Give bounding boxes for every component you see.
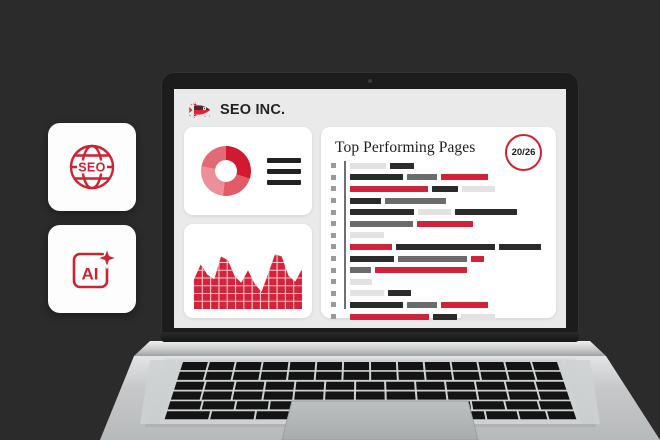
- keyboard-key[interactable]: [476, 382, 506, 390]
- row-bar: [350, 302, 403, 308]
- scene: SEO AI: [0, 0, 660, 440]
- row-bar: [350, 256, 394, 262]
- row-bar: [471, 256, 484, 262]
- keyboard-key[interactable]: [265, 382, 294, 390]
- table-row[interactable]: [331, 253, 544, 265]
- row-bar: [350, 279, 372, 285]
- donut-legend: [267, 158, 301, 185]
- table-row[interactable]: [331, 183, 544, 195]
- keyboard-key[interactable]: [447, 392, 477, 400]
- row-bar: [350, 163, 386, 169]
- table-row[interactable]: [331, 311, 544, 323]
- keyboard-key[interactable]: [171, 392, 202, 400]
- left-column: [184, 127, 312, 318]
- legend-bar: [267, 180, 301, 185]
- keyboard-key[interactable]: [233, 372, 260, 380]
- list-divider: [344, 161, 346, 309]
- row-bars: [350, 172, 488, 184]
- row-bar: [407, 174, 437, 180]
- legend-bar: [267, 169, 301, 174]
- row-bar: [407, 302, 437, 308]
- bullet-icon: [331, 210, 336, 215]
- row-bar: [350, 209, 414, 215]
- bullet-icon: [331, 163, 336, 168]
- row-bar: [455, 209, 517, 215]
- keyboard-key[interactable]: [446, 382, 475, 390]
- row-bar: [350, 221, 413, 227]
- row-bar: [350, 186, 428, 192]
- bullet-icon: [331, 244, 336, 249]
- table-row[interactable]: [331, 172, 544, 184]
- row-bar: [418, 209, 451, 215]
- keyboard-key[interactable]: [506, 382, 536, 390]
- keyboard-key[interactable]: [547, 411, 576, 419]
- keyboard-key[interactable]: [539, 401, 573, 409]
- row-bars: [350, 276, 372, 288]
- row-bars: [350, 311, 495, 323]
- keyboard-key[interactable]: [235, 362, 262, 370]
- table-row[interactable]: [331, 218, 544, 230]
- keyboard-key[interactable]: [204, 382, 234, 390]
- row-bar: [350, 174, 403, 180]
- keyboard-key[interactable]: [235, 382, 265, 390]
- table-row[interactable]: [331, 206, 544, 218]
- keyboard-key[interactable]: [508, 392, 539, 400]
- seo-dashboard: SEO INC.: [174, 89, 566, 328]
- table-row[interactable]: [331, 299, 544, 311]
- keyboard-key[interactable]: [210, 411, 255, 419]
- bullet-icon: [331, 233, 336, 238]
- row-bar: [433, 314, 457, 320]
- keyboard-key[interactable]: [263, 392, 293, 400]
- keyboard-key[interactable]: [453, 372, 480, 380]
- laptop-lid: SEO INC.: [161, 72, 579, 342]
- keyboard-key[interactable]: [343, 372, 369, 380]
- webcam-icon: [368, 79, 372, 83]
- table-row[interactable]: [331, 230, 544, 242]
- keyboard-key[interactable]: [236, 401, 269, 409]
- bullet-icon: [331, 256, 336, 261]
- row-bars: [350, 288, 411, 300]
- keyboard-key[interactable]: [486, 411, 519, 419]
- bullet-icon: [331, 221, 336, 226]
- keyboard-key[interactable]: [294, 392, 323, 400]
- keyboard-key[interactable]: [386, 382, 415, 390]
- keyboard-key[interactable]: [505, 362, 532, 370]
- keyboard-key[interactable]: [325, 392, 354, 400]
- keyboard-key[interactable]: [536, 382, 567, 390]
- keyboard-key[interactable]: [295, 382, 324, 390]
- row-bars: [350, 160, 414, 172]
- row-bars: [350, 230, 384, 242]
- brand-header: SEO INC.: [184, 98, 556, 122]
- row-bar: [461, 314, 495, 320]
- keyboard-key[interactable]: [426, 372, 453, 380]
- keyboard-key[interactable]: [425, 362, 451, 370]
- keyboard-key[interactable]: [208, 362, 235, 370]
- bullet-icon: [331, 314, 336, 319]
- laptop: SEO INC.: [0, 0, 660, 440]
- keyboard-key[interactable]: [371, 362, 396, 370]
- legend-bar: [267, 158, 301, 163]
- keyboard-key[interactable]: [317, 362, 343, 370]
- keyboard-key[interactable]: [478, 392, 508, 400]
- row-bars: [350, 183, 495, 195]
- bullet-icon: [331, 175, 336, 180]
- table-row[interactable]: [331, 288, 544, 300]
- keyboard-key[interactable]: [371, 372, 397, 380]
- donut-chart: [195, 140, 257, 202]
- table-row[interactable]: [331, 264, 544, 276]
- row-bars: [350, 241, 541, 253]
- donut-card[interactable]: [184, 127, 312, 215]
- table-row[interactable]: [331, 276, 544, 288]
- row-bar: [388, 290, 411, 296]
- row-bar: [350, 290, 384, 296]
- row-bar: [432, 186, 458, 192]
- keyboard-key[interactable]: [344, 362, 369, 370]
- keyboard-key[interactable]: [168, 401, 202, 409]
- row-bar: [350, 232, 384, 238]
- keyboard-key[interactable]: [356, 392, 385, 400]
- keyboard-key[interactable]: [202, 392, 233, 400]
- keyboard-key[interactable]: [165, 411, 211, 419]
- row-bar: [375, 267, 467, 273]
- table-row[interactable]: [331, 241, 544, 253]
- row-bar: [350, 244, 392, 250]
- row-bar: [417, 221, 473, 227]
- bullet-icon: [331, 291, 336, 296]
- row-bar: [396, 244, 495, 250]
- keyboard-key[interactable]: [478, 362, 505, 370]
- row-bar: [385, 198, 446, 204]
- row-bar: [350, 314, 429, 320]
- keyboard-key[interactable]: [326, 382, 355, 390]
- row-bars: [350, 218, 473, 230]
- table-row[interactable]: [331, 195, 544, 207]
- keyboard-key[interactable]: [532, 362, 560, 370]
- row-bar: [441, 302, 488, 308]
- row-bars: [350, 299, 488, 311]
- row-bar: [390, 163, 414, 169]
- keyboard-key[interactable]: [472, 401, 505, 409]
- keyboard-key[interactable]: [288, 372, 314, 380]
- row-bars: [350, 206, 517, 218]
- keyboard-key[interactable]: [316, 372, 342, 380]
- row-bar: [350, 267, 371, 273]
- brand-name: SEO INC.: [220, 102, 285, 118]
- keyboard-key[interactable]: [177, 372, 205, 380]
- laptop-screen: SEO INC.: [174, 89, 566, 328]
- area-chart: [194, 247, 302, 309]
- row-bars: [350, 264, 467, 276]
- row-bar: [499, 244, 541, 250]
- keyboard-key[interactable]: [260, 372, 287, 380]
- pages-list: [331, 160, 544, 310]
- row-bar: [398, 256, 467, 262]
- keyboard-key[interactable]: [398, 362, 424, 370]
- bullet-icon: [331, 302, 336, 307]
- rocket-icon: [188, 101, 213, 119]
- keyboard-key[interactable]: [539, 392, 570, 400]
- keyboard-key[interactable]: [535, 372, 563, 380]
- keyboard-key[interactable]: [452, 362, 478, 370]
- keyboard-key[interactable]: [356, 382, 384, 390]
- keyboard-key[interactable]: [174, 382, 205, 390]
- keyboard-key[interactable]: [417, 392, 447, 400]
- keyboard-key[interactable]: [205, 372, 233, 380]
- keyboard-key[interactable]: [233, 392, 263, 400]
- table-row[interactable]: [331, 160, 544, 172]
- row-bars: [350, 253, 484, 265]
- row-bar: [462, 186, 495, 192]
- dashboard-panels: Top Performing Pages 20/26: [184, 127, 556, 318]
- keyboard-key[interactable]: [505, 401, 539, 409]
- keyboard-key[interactable]: [289, 362, 315, 370]
- keyboard-key[interactable]: [387, 392, 416, 400]
- keyboard-key[interactable]: [262, 362, 288, 370]
- keyboard-key[interactable]: [519, 411, 548, 419]
- row-bar: [350, 198, 381, 204]
- keyboard-key[interactable]: [202, 401, 236, 409]
- bullet-icon: [331, 279, 336, 284]
- area-card[interactable]: [184, 224, 312, 318]
- row-bar: [441, 174, 488, 180]
- keyboard-key[interactable]: [416, 382, 445, 390]
- keyboard-key[interactable]: [180, 362, 208, 370]
- keyboard-key[interactable]: [480, 372, 507, 380]
- bullet-icon: [331, 186, 336, 191]
- keyboard-key[interactable]: [398, 372, 424, 380]
- keyboard-key[interactable]: [508, 372, 536, 380]
- row-bars: [350, 195, 446, 207]
- bullet-icon: [331, 268, 336, 273]
- bullet-icon: [331, 198, 336, 203]
- top-performing-pages-card[interactable]: Top Performing Pages 20/26: [321, 127, 556, 318]
